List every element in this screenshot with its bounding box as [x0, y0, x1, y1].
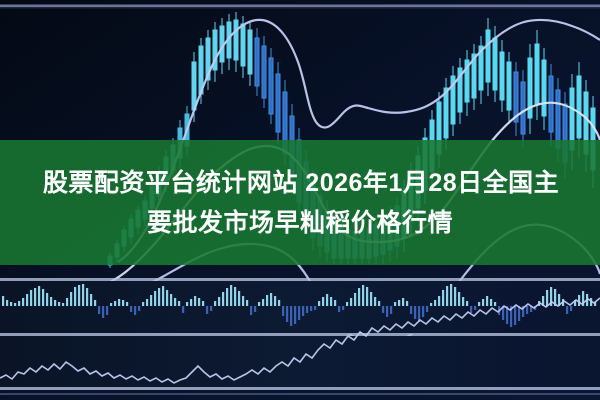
title-line-2: 要批发市场早籼稻价格行情 — [147, 203, 453, 243]
indicator-panel-baseline — [0, 393, 600, 395]
indicator-panel-bottom-separator — [0, 387, 600, 390]
title-banner: 股票配资平台统计网站 2026年1月28日全国主 要批发市场早籼稻价格行情 — [0, 140, 600, 265]
stock-chart-banner-image: 股票配资平台统计网站 2026年1月28日全国主 要批发市场早籼稻价格行情 — [0, 0, 600, 400]
top-separator-line-shadow — [0, 7, 600, 9]
histogram-panel-bottom-separator — [0, 333, 600, 336]
top-separator-line — [0, 5, 600, 8]
histogram-panel-top-separator — [0, 278, 600, 281]
title-line-1: 股票配资平台统计网站 2026年1月28日全国主 — [43, 163, 559, 203]
